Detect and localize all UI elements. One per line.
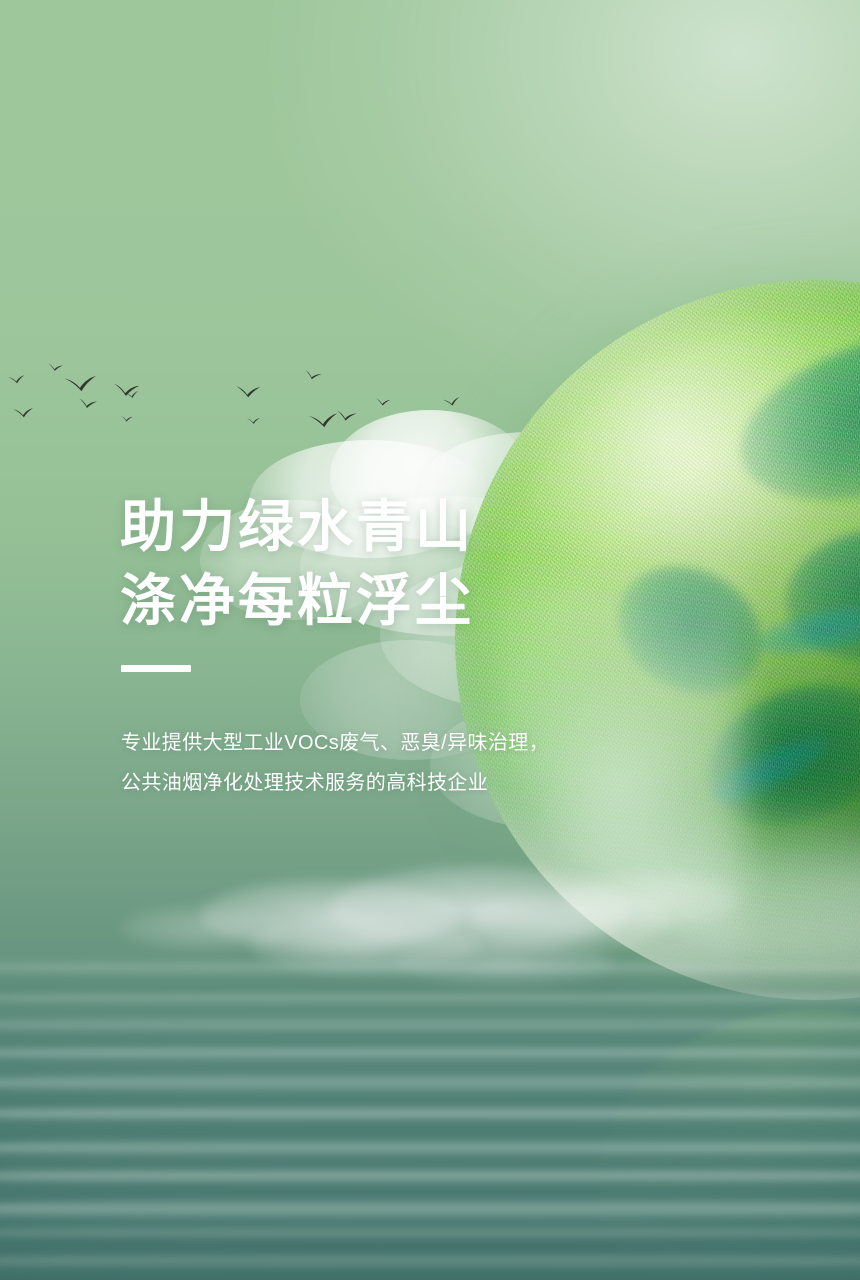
subtitle-line-2: 公共油烟净化处理技术服务的高科技企业 bbox=[121, 764, 720, 802]
bird-icon bbox=[375, 398, 390, 406]
bird-icon bbox=[236, 386, 260, 398]
bird-icon bbox=[443, 397, 460, 407]
water-wave bbox=[0, 1047, 860, 1059]
headline-line-2: 涤净每粒浮尘 bbox=[120, 564, 720, 638]
bird-icon bbox=[78, 398, 97, 409]
bird-icon bbox=[309, 413, 338, 428]
water-wave bbox=[0, 993, 860, 1003]
hero-text-block: 助力绿水青山 涤净每粒浮尘 专业提供大型工业VOCs废气、恶臭/异味治理， 公共… bbox=[120, 490, 720, 802]
bird-icon bbox=[120, 416, 132, 422]
headline-line-1: 助力绿水青山 bbox=[120, 490, 720, 564]
water-surface bbox=[0, 955, 860, 1280]
bird-icon bbox=[247, 418, 260, 424]
water-wave bbox=[0, 1198, 860, 1220]
water-wave bbox=[0, 1017, 860, 1033]
water-wave bbox=[0, 1073, 860, 1093]
water-wave bbox=[0, 1107, 860, 1120]
promo-poster: 助力绿水青山 涤净每粒浮尘 专业提供大型工业VOCs废气、恶臭/异味治理， 公共… bbox=[0, 0, 860, 1280]
divider-rule bbox=[121, 665, 191, 672]
water-wave bbox=[0, 1227, 860, 1239]
bird-icon bbox=[64, 376, 96, 392]
bird-icon bbox=[13, 408, 33, 418]
water-wave bbox=[0, 1169, 860, 1183]
water-wave bbox=[0, 1139, 860, 1157]
flying-birds-flock bbox=[0, 330, 470, 460]
subtitle-line-1: 专业提供大型工业VOCs废气、恶臭/异味治理， bbox=[121, 724, 720, 762]
water-wave bbox=[0, 961, 860, 975]
bird-icon bbox=[336, 410, 357, 422]
bird-icon bbox=[47, 363, 62, 371]
bird-icon bbox=[113, 384, 139, 397]
water-trough bbox=[0, 1273, 860, 1280]
bird-icon bbox=[304, 370, 322, 381]
water-wave bbox=[0, 1253, 860, 1269]
bird-icon bbox=[8, 375, 25, 384]
